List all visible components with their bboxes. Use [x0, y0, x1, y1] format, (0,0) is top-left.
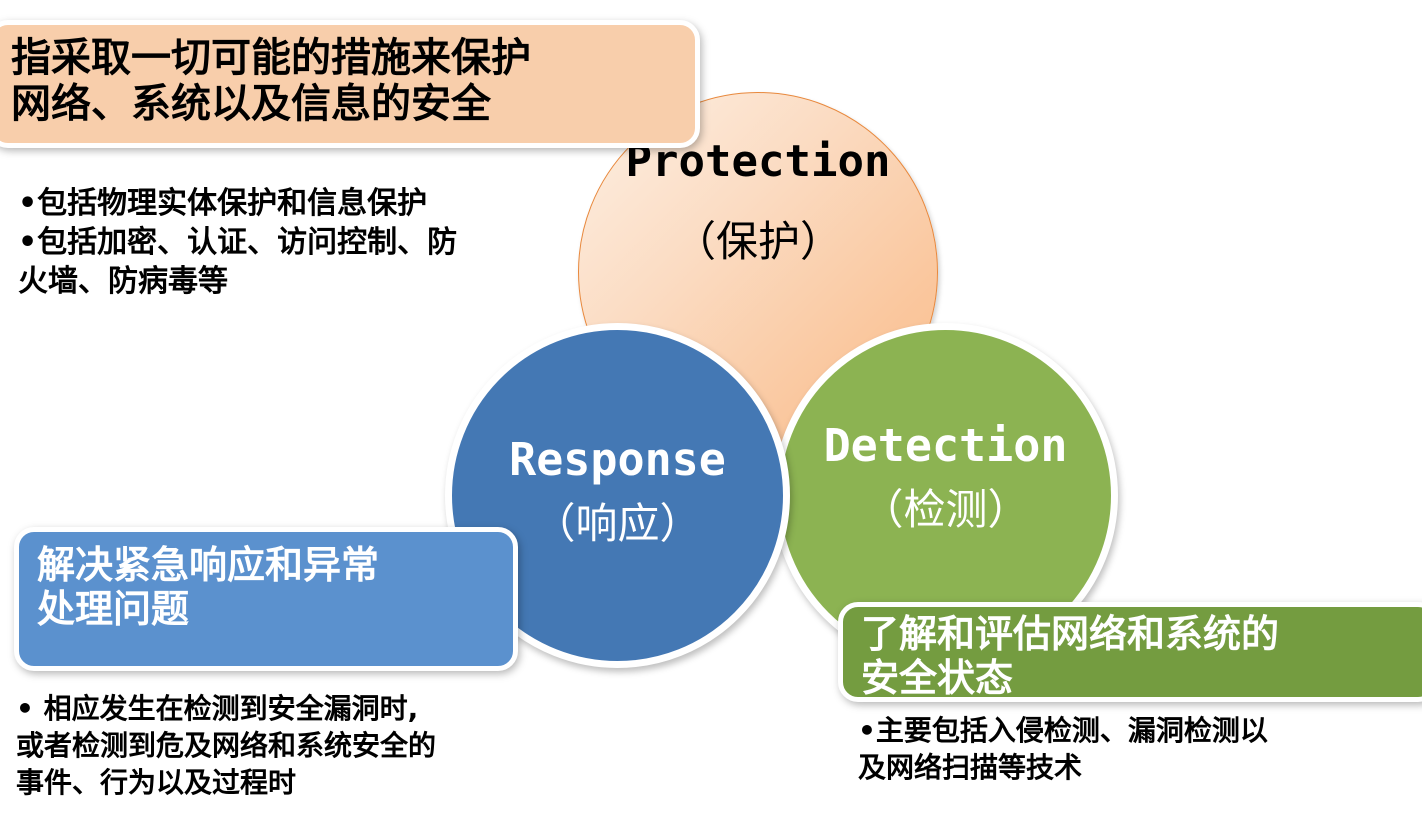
body-text-protection-line1: •包括物理实体保护和信息保护 — [18, 184, 457, 223]
callout-response: 解决紧急响应和异常 处理问题 — [14, 527, 518, 671]
body-text-response-line3: 事件、行为以及过程时 — [16, 764, 436, 801]
body-text-response-line2: 或者检测到危及网络和系统安全的 — [16, 727, 436, 764]
body-text-detection-line2: 及网络扫描等技术 — [858, 749, 1268, 786]
callout-protection: 指采取一切可能的措施来保护 网络、系统以及信息的安全 — [0, 20, 700, 148]
body-text-response-line1: • 相应发生在检测到安全漏洞时, — [16, 690, 436, 727]
body-text-response: • 相应发生在检测到安全漏洞时, 或者检测到危及网络和系统安全的 事件、行为以及… — [16, 690, 436, 802]
circle-response-title: Response — [452, 437, 783, 483]
body-text-protection: •包括物理实体保护和信息保护 •包括加密、认证、访问控制、防 火墙、防病毒等 — [18, 184, 457, 301]
circle-detection-subtitle: （检测） — [861, 486, 1029, 534]
callout-detection-line1: 了解和评估网络和系统的 — [861, 613, 1419, 657]
callout-response-line2: 处理问题 — [37, 588, 499, 632]
body-text-protection-line3: 火墙、防病毒等 — [18, 262, 457, 301]
body-text-detection: •主要包括入侵检测、漏洞检测以 及网络扫描等技术 — [858, 712, 1268, 786]
venn-diagram-slide: Protection （保护） Response （响应） Detection … — [0, 0, 1422, 832]
callout-detection: 了解和评估网络和系统的 安全状态 — [838, 602, 1422, 702]
body-text-detection-line1: •主要包括入侵检测、漏洞检测以 — [858, 712, 1268, 749]
circle-response-subtitle: （响应） — [533, 500, 701, 548]
circle-protection-subtitle: （保护） — [674, 218, 842, 266]
body-text-protection-line2: •包括加密、认证、访问控制、防 — [18, 223, 457, 262]
callout-response-line1: 解决紧急响应和异常 — [37, 544, 499, 588]
callout-protection-line2: 网络、系统以及信息的安全 — [11, 81, 681, 127]
callout-protection-line1: 指采取一切可能的措施来保护 — [11, 35, 681, 81]
circle-detection-title: Detection — [780, 423, 1111, 469]
callout-detection-line2: 安全状态 — [861, 657, 1419, 701]
